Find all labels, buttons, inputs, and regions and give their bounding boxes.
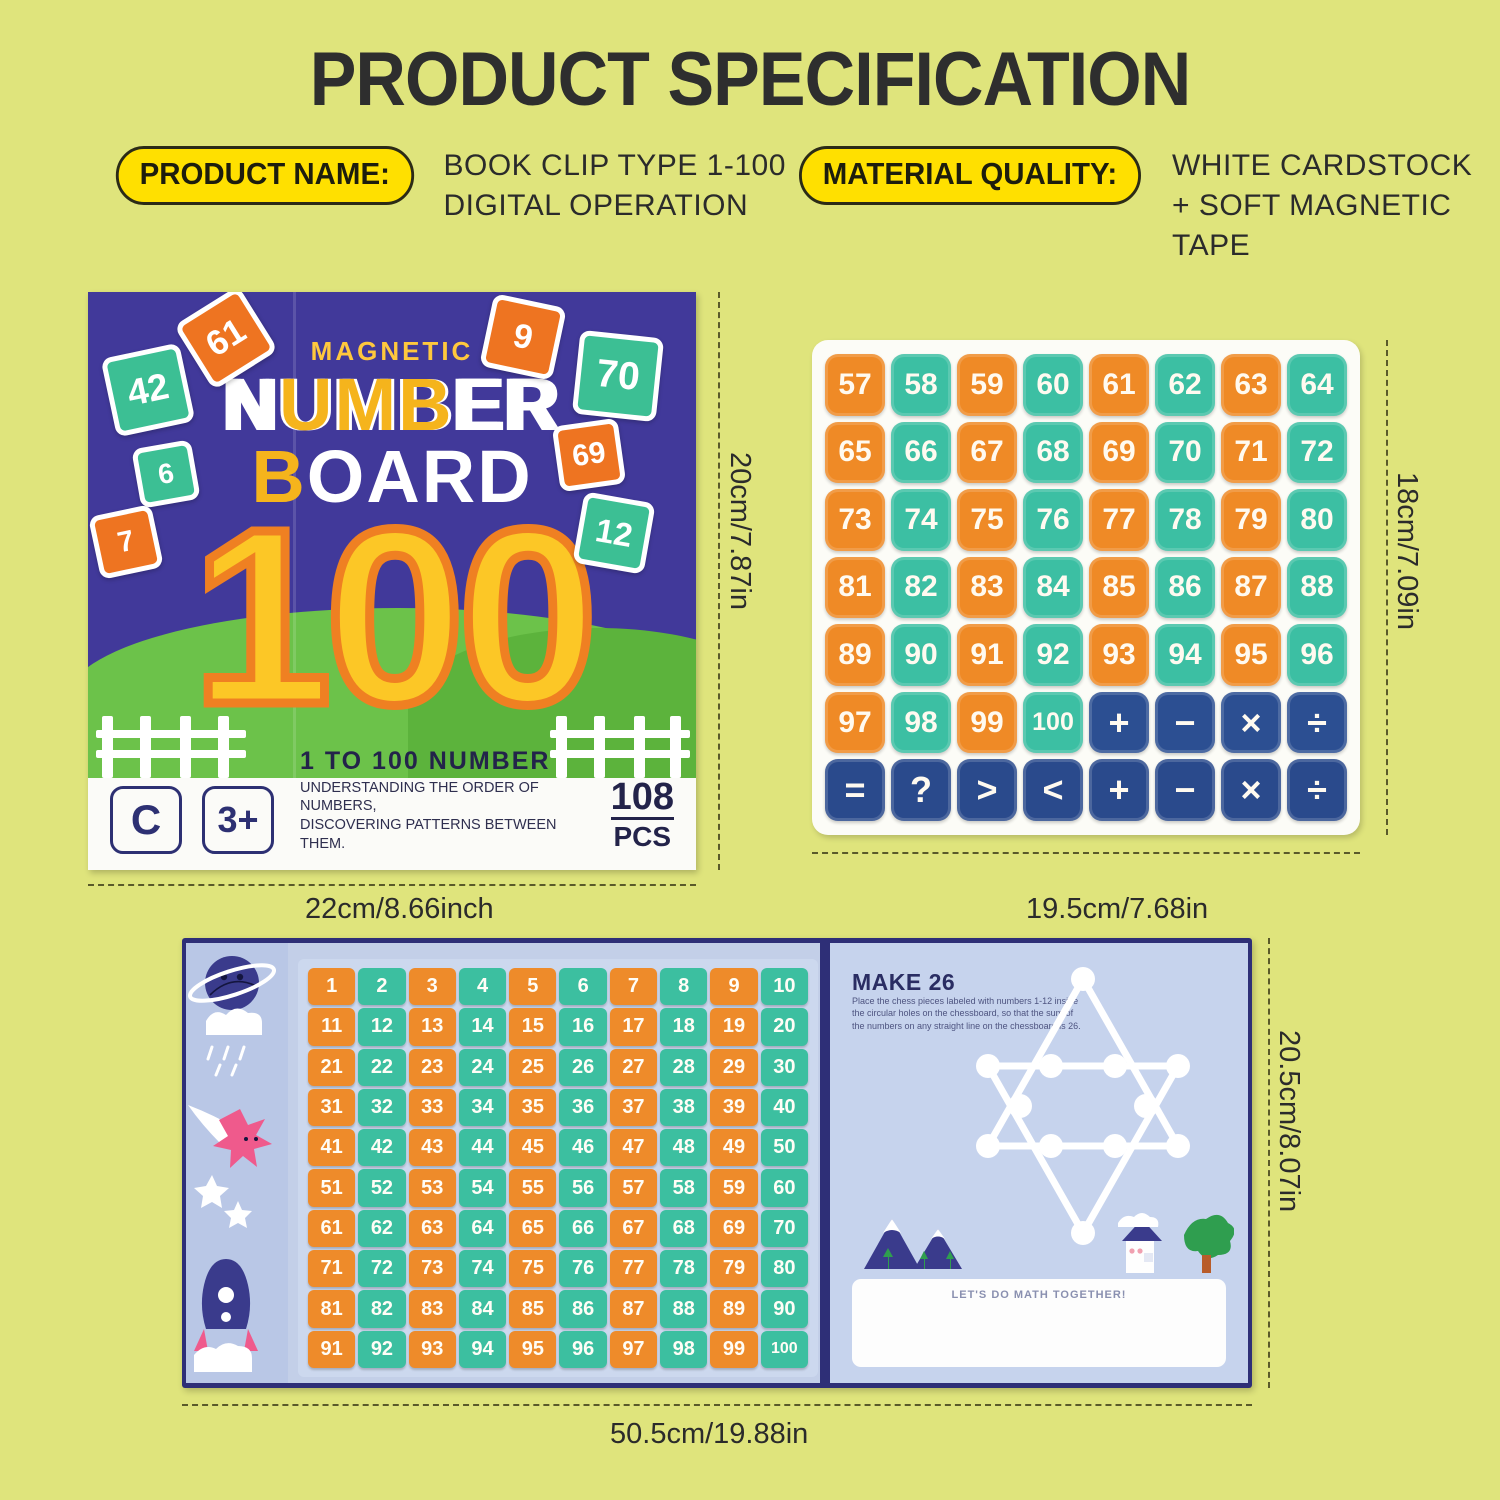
chip-number: 86: [1155, 557, 1215, 619]
grid-tile: 41: [308, 1129, 355, 1166]
grid-tile: 38: [660, 1089, 707, 1126]
chip-number: 57: [825, 354, 885, 416]
chip-number: 69: [1089, 422, 1149, 484]
grid-tile: 23: [409, 1049, 456, 1086]
grid-tile: 16: [559, 1008, 606, 1045]
grid-tile: 71: [308, 1250, 355, 1287]
grid-tile: 50: [761, 1129, 808, 1166]
grid-tile: 8: [660, 968, 707, 1005]
grid-tile: 63: [409, 1210, 456, 1247]
chip-number: 66: [891, 422, 951, 484]
chip-number: 97: [825, 692, 885, 754]
space-decorations-icon: [186, 943, 288, 1383]
chip-number: 74: [891, 489, 951, 551]
grid-tile: 58: [660, 1169, 707, 1206]
grid-tile: 80: [761, 1250, 808, 1287]
chip-number: 60: [1023, 354, 1083, 416]
grid-tile: 28: [660, 1049, 707, 1086]
grid-tile: 81: [308, 1290, 355, 1327]
pieces-count-badge: 108 PCS: [611, 778, 674, 854]
chip-number: 82: [891, 557, 951, 619]
grid-tile: 36: [559, 1089, 606, 1126]
grid-tile: 30: [761, 1049, 808, 1086]
answer-box-label: LET'S DO MATH TOGETHER!: [852, 1289, 1226, 1301]
dim-line-chipboard-width: [812, 852, 1360, 854]
grid-tile: 57: [610, 1169, 657, 1206]
cover-tile: 42: [101, 343, 196, 438]
chip-number: 77: [1089, 489, 1149, 551]
number-grid-1-100: 1234567891011121314151617181920212223242…: [298, 959, 818, 1377]
chip-operator: ?: [891, 759, 951, 821]
chip-number: 75: [957, 489, 1017, 551]
dim-line-book-width: [182, 1404, 1252, 1406]
product-box-image: MAGNETIC NUMBER BOARD 100 6142679706912 …: [88, 292, 696, 870]
dim-line-box-width: [88, 884, 696, 886]
grid-tile: 31: [308, 1089, 355, 1126]
grid-tile: 72: [358, 1250, 405, 1287]
grid-tile: 48: [660, 1129, 707, 1166]
dim-label-box-width: 22cm/8.66inch: [305, 893, 494, 926]
grid-tile: 69: [710, 1210, 757, 1247]
grid-tile: 82: [358, 1290, 405, 1327]
dim-line-book-height: [1268, 938, 1270, 1388]
dim-label-box-height: 20cm/7.87in: [723, 452, 756, 610]
grid-tile: 91: [308, 1331, 355, 1368]
grid-tile: 37: [610, 1089, 657, 1126]
grid-tile: 94: [459, 1331, 506, 1368]
grid-tile: 32: [358, 1089, 405, 1126]
spec-label-product-name: PRODUCT NAME:: [116, 146, 414, 205]
grid-tile: 47: [610, 1129, 657, 1166]
dim-label-book-height: 20.5cm/8.07in: [1272, 1030, 1305, 1212]
grid-tile: 18: [660, 1008, 707, 1045]
grid-tile: 56: [559, 1169, 606, 1206]
spec-label-material-quality: MATERIAL QUALITY:: [799, 146, 1141, 205]
grid-tile: 10: [761, 968, 808, 1005]
grid-tile: 15: [509, 1008, 556, 1045]
chip-number: 96: [1287, 624, 1347, 686]
grid-tile: 42: [358, 1129, 405, 1166]
grid-tile: 44: [459, 1129, 506, 1166]
pieces-count-number: 108: [611, 778, 674, 820]
grid-tile: 17: [610, 1008, 657, 1045]
chip-number: 63: [1221, 354, 1281, 416]
grid-tile: 19: [710, 1008, 757, 1045]
grid-tile: 1: [308, 968, 355, 1005]
grid-tile: 84: [459, 1290, 506, 1327]
grid-tile: 83: [409, 1290, 456, 1327]
grid-tile: 33: [409, 1089, 456, 1126]
grid-tile: 97: [610, 1331, 657, 1368]
grid-tile: 54: [459, 1169, 506, 1206]
chip-number: 99: [957, 692, 1017, 754]
grid-tile: 65: [509, 1210, 556, 1247]
grid-tile: 92: [358, 1331, 405, 1368]
grid-tile: 7: [610, 968, 657, 1005]
grid-tile: 46: [559, 1129, 606, 1166]
dim-label-chipboard-height: 18cm/7.09in: [1390, 472, 1423, 630]
grid-tile: 11: [308, 1008, 355, 1045]
chip-number: 81: [825, 557, 885, 619]
dim-line-chipboard-height: [1386, 340, 1388, 835]
chip-operator: ÷: [1287, 692, 1347, 754]
grid-tile: 6: [559, 968, 606, 1005]
grid-tile: 4: [459, 968, 506, 1005]
grid-tile: 67: [610, 1210, 657, 1247]
grid-tile: 2: [358, 968, 405, 1005]
chip-number: 70: [1155, 422, 1215, 484]
chip-number: 84: [1023, 557, 1083, 619]
grid-tile: 74: [459, 1250, 506, 1287]
grid-tile: 53: [409, 1169, 456, 1206]
chip-number: 88: [1287, 557, 1347, 619]
chip-number: 89: [825, 624, 885, 686]
grid-tile: 68: [660, 1210, 707, 1247]
chip-number: 90: [891, 624, 951, 686]
spec-material-quality: MATERIAL QUALITY: WHITE CARDSTOCK + SOFT…: [790, 146, 1500, 266]
grid-tile: 27: [610, 1049, 657, 1086]
house-and-tree-icon: [1118, 1197, 1234, 1279]
grid-tile: 49: [710, 1129, 757, 1166]
grid-tile: 3: [409, 968, 456, 1005]
chip-number: 73: [825, 489, 885, 551]
grid-tile: 9: [710, 968, 757, 1005]
chip-number: 78: [1155, 489, 1215, 551]
grid-tile: 5: [509, 968, 556, 1005]
chip-number: 67: [957, 422, 1017, 484]
chip-number: 92: [1023, 624, 1083, 686]
chip-operator: <: [1023, 759, 1083, 821]
grid-tile: 43: [409, 1129, 456, 1166]
cover-tile: 7: [88, 504, 164, 580]
spec-product-name: PRODUCT NAME: BOOK CLIP TYPE 1-100 DIGIT…: [108, 146, 786, 226]
chip-number: 95: [1221, 624, 1281, 686]
grid-tile: 86: [559, 1290, 606, 1327]
grid-tile: 99: [710, 1331, 757, 1368]
grid-tile: 22: [358, 1049, 405, 1086]
chip-operator: −: [1155, 692, 1215, 754]
grid-tile: 60: [761, 1169, 808, 1206]
dim-label-book-width: 50.5cm/19.88in: [610, 1418, 808, 1451]
book-spread-image: 1234567891011121314151617181920212223242…: [182, 938, 1252, 1388]
grid-tile: 55: [509, 1169, 556, 1206]
grid-tile: 87: [610, 1290, 657, 1327]
mountains-icon: [862, 1211, 980, 1271]
book-right-page: MAKE 26 Place the chess pieces labeled w…: [830, 943, 1248, 1383]
grid-tile: 62: [358, 1210, 405, 1247]
chip-number: 76: [1023, 489, 1083, 551]
chip-number: 79: [1221, 489, 1281, 551]
grid-tile: 20: [761, 1008, 808, 1045]
grid-tile: 90: [761, 1290, 808, 1327]
age-badge: 3+: [202, 786, 274, 854]
grid-tile: 89: [710, 1290, 757, 1327]
chip-number: 59: [957, 354, 1017, 416]
grid-tile: 40: [761, 1089, 808, 1126]
grid-tile: 13: [409, 1008, 456, 1045]
chip-number: 58: [891, 354, 951, 416]
answer-input-box[interactable]: LET'S DO MATH TOGETHER!: [852, 1279, 1226, 1367]
grid-tile: 100: [761, 1331, 808, 1368]
grid-tile: 35: [509, 1089, 556, 1126]
cover-tile: 69: [552, 418, 627, 493]
grid-tile: 77: [610, 1250, 657, 1287]
grid-tile: 76: [559, 1250, 606, 1287]
chip-number: 65: [825, 422, 885, 484]
feature-subtext: UNDERSTANDING THE ORDER OF NUMBERS, DISC…: [300, 779, 600, 854]
chip-board-image: 5758596061626364656667686970717273747576…: [812, 340, 1360, 835]
cover-tile: 6: [131, 439, 201, 509]
chip-number: 62: [1155, 354, 1215, 416]
dim-line-box-height: [718, 292, 720, 870]
book-left-page: 1234567891011121314151617181920212223242…: [186, 943, 826, 1383]
chip-operator: +: [1089, 759, 1149, 821]
chip-number: 64: [1287, 354, 1347, 416]
chip-number: 87: [1221, 557, 1281, 619]
grid-tile: 26: [559, 1049, 606, 1086]
grid-tile: 51: [308, 1169, 355, 1206]
feature-heading: 1 TO 100 NUMBER: [300, 747, 600, 776]
grid-tile: 24: [459, 1049, 506, 1086]
chip-number: 80: [1287, 489, 1347, 551]
box-feature-text: 1 TO 100 NUMBER UNDERSTANDING THE ORDER …: [300, 747, 600, 854]
chip-operator: ×: [1221, 759, 1281, 821]
grid-tile: 45: [509, 1129, 556, 1166]
chip-number: 83: [957, 557, 1017, 619]
grid-tile: 59: [710, 1169, 757, 1206]
chip-operator: ÷: [1287, 759, 1347, 821]
grid-tile: 61: [308, 1210, 355, 1247]
chip-number: 72: [1287, 422, 1347, 484]
grid-tile: 12: [358, 1008, 405, 1045]
chip-number: 100: [1023, 692, 1083, 754]
grid-tile: 93: [409, 1331, 456, 1368]
chip-number: 68: [1023, 422, 1083, 484]
chip-number: 93: [1089, 624, 1149, 686]
grid-tile: 78: [660, 1250, 707, 1287]
grid-tile: 95: [509, 1331, 556, 1368]
chip-operator: −: [1155, 759, 1215, 821]
grid-tile: 64: [459, 1210, 506, 1247]
chip-operator: +: [1089, 692, 1149, 754]
cover-tile: 70: [572, 330, 664, 422]
grid-tile: 85: [509, 1290, 556, 1327]
chip-operator: ×: [1221, 692, 1281, 754]
grid-tile: 73: [409, 1250, 456, 1287]
spec-value-material-quality: WHITE CARDSTOCK + SOFT MAGNETIC TAPE: [1172, 146, 1500, 266]
chip-number: 98: [891, 692, 951, 754]
grid-tile: 88: [660, 1290, 707, 1327]
grid-tile: 29: [710, 1049, 757, 1086]
grid-tile: 39: [710, 1089, 757, 1126]
cover-tile: 12: [572, 491, 655, 574]
grid-tile: 66: [559, 1210, 606, 1247]
dim-label-chipboard-width: 19.5cm/7.68in: [1026, 893, 1208, 926]
grid-tile: 21: [308, 1049, 355, 1086]
decoration-strip: [186, 943, 288, 1383]
box-info-bar: C 3+ 1 TO 100 NUMBER UNDERSTANDING THE O…: [88, 778, 696, 870]
pieces-count-unit: PCS: [611, 820, 674, 854]
grid-tile: 34: [459, 1089, 506, 1126]
chip-operator: >: [957, 759, 1017, 821]
chip-number: 71: [1221, 422, 1281, 484]
grid-tile: 52: [358, 1169, 405, 1206]
grid-tile: 70: [761, 1210, 808, 1247]
chip-number: 85: [1089, 557, 1149, 619]
spec-value-product-name: BOOK CLIP TYPE 1-100 DIGITAL OPERATION: [444, 146, 786, 226]
chip-number: 61: [1089, 354, 1149, 416]
grid-tile: 75: [509, 1250, 556, 1287]
grid-tile: 79: [710, 1250, 757, 1287]
chip-operator: =: [825, 759, 885, 821]
chip-number: 94: [1155, 624, 1215, 686]
grid-tile: 98: [660, 1331, 707, 1368]
grid-tile: 25: [509, 1049, 556, 1086]
magnet-icon: C: [110, 786, 182, 854]
grid-tile: 14: [459, 1008, 506, 1045]
grid-tile: 96: [559, 1331, 606, 1368]
page-title: PRODUCT SPECIFICATION: [60, 36, 1440, 123]
chip-number: 91: [957, 624, 1017, 686]
cover-tile: 9: [479, 293, 567, 381]
